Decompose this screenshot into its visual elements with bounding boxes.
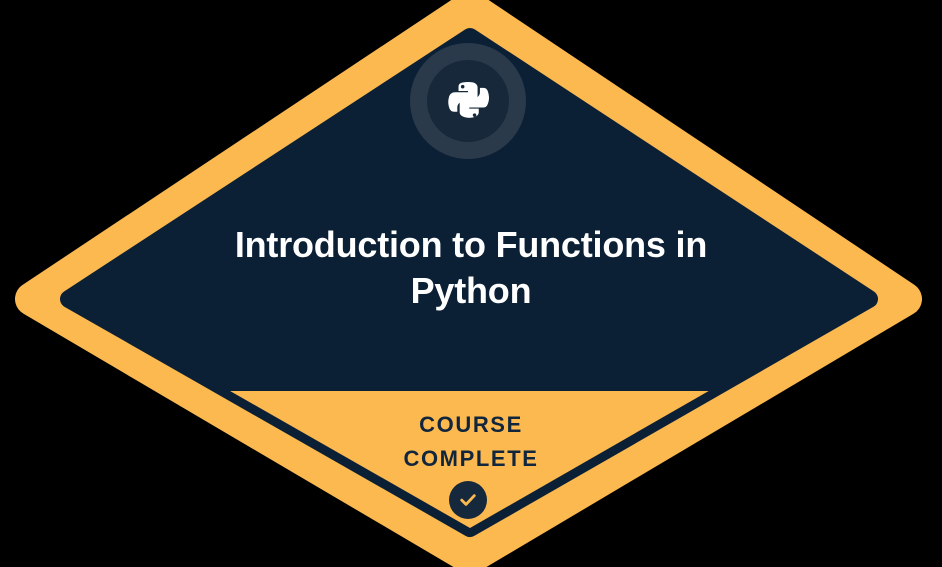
check-icon (458, 490, 478, 510)
python-logo-icon (446, 79, 490, 123)
course-completion-badge: Introduction to Functions in Python COUR… (0, 0, 942, 567)
completion-check-badge (449, 481, 487, 519)
completion-status: COURSE COMPLETE (171, 408, 771, 476)
python-emblem-disc (427, 60, 509, 142)
status-label: COURSE COMPLETE (171, 408, 771, 476)
python-emblem (410, 43, 526, 159)
course-title: Introduction to Functions in Python (120, 222, 822, 314)
